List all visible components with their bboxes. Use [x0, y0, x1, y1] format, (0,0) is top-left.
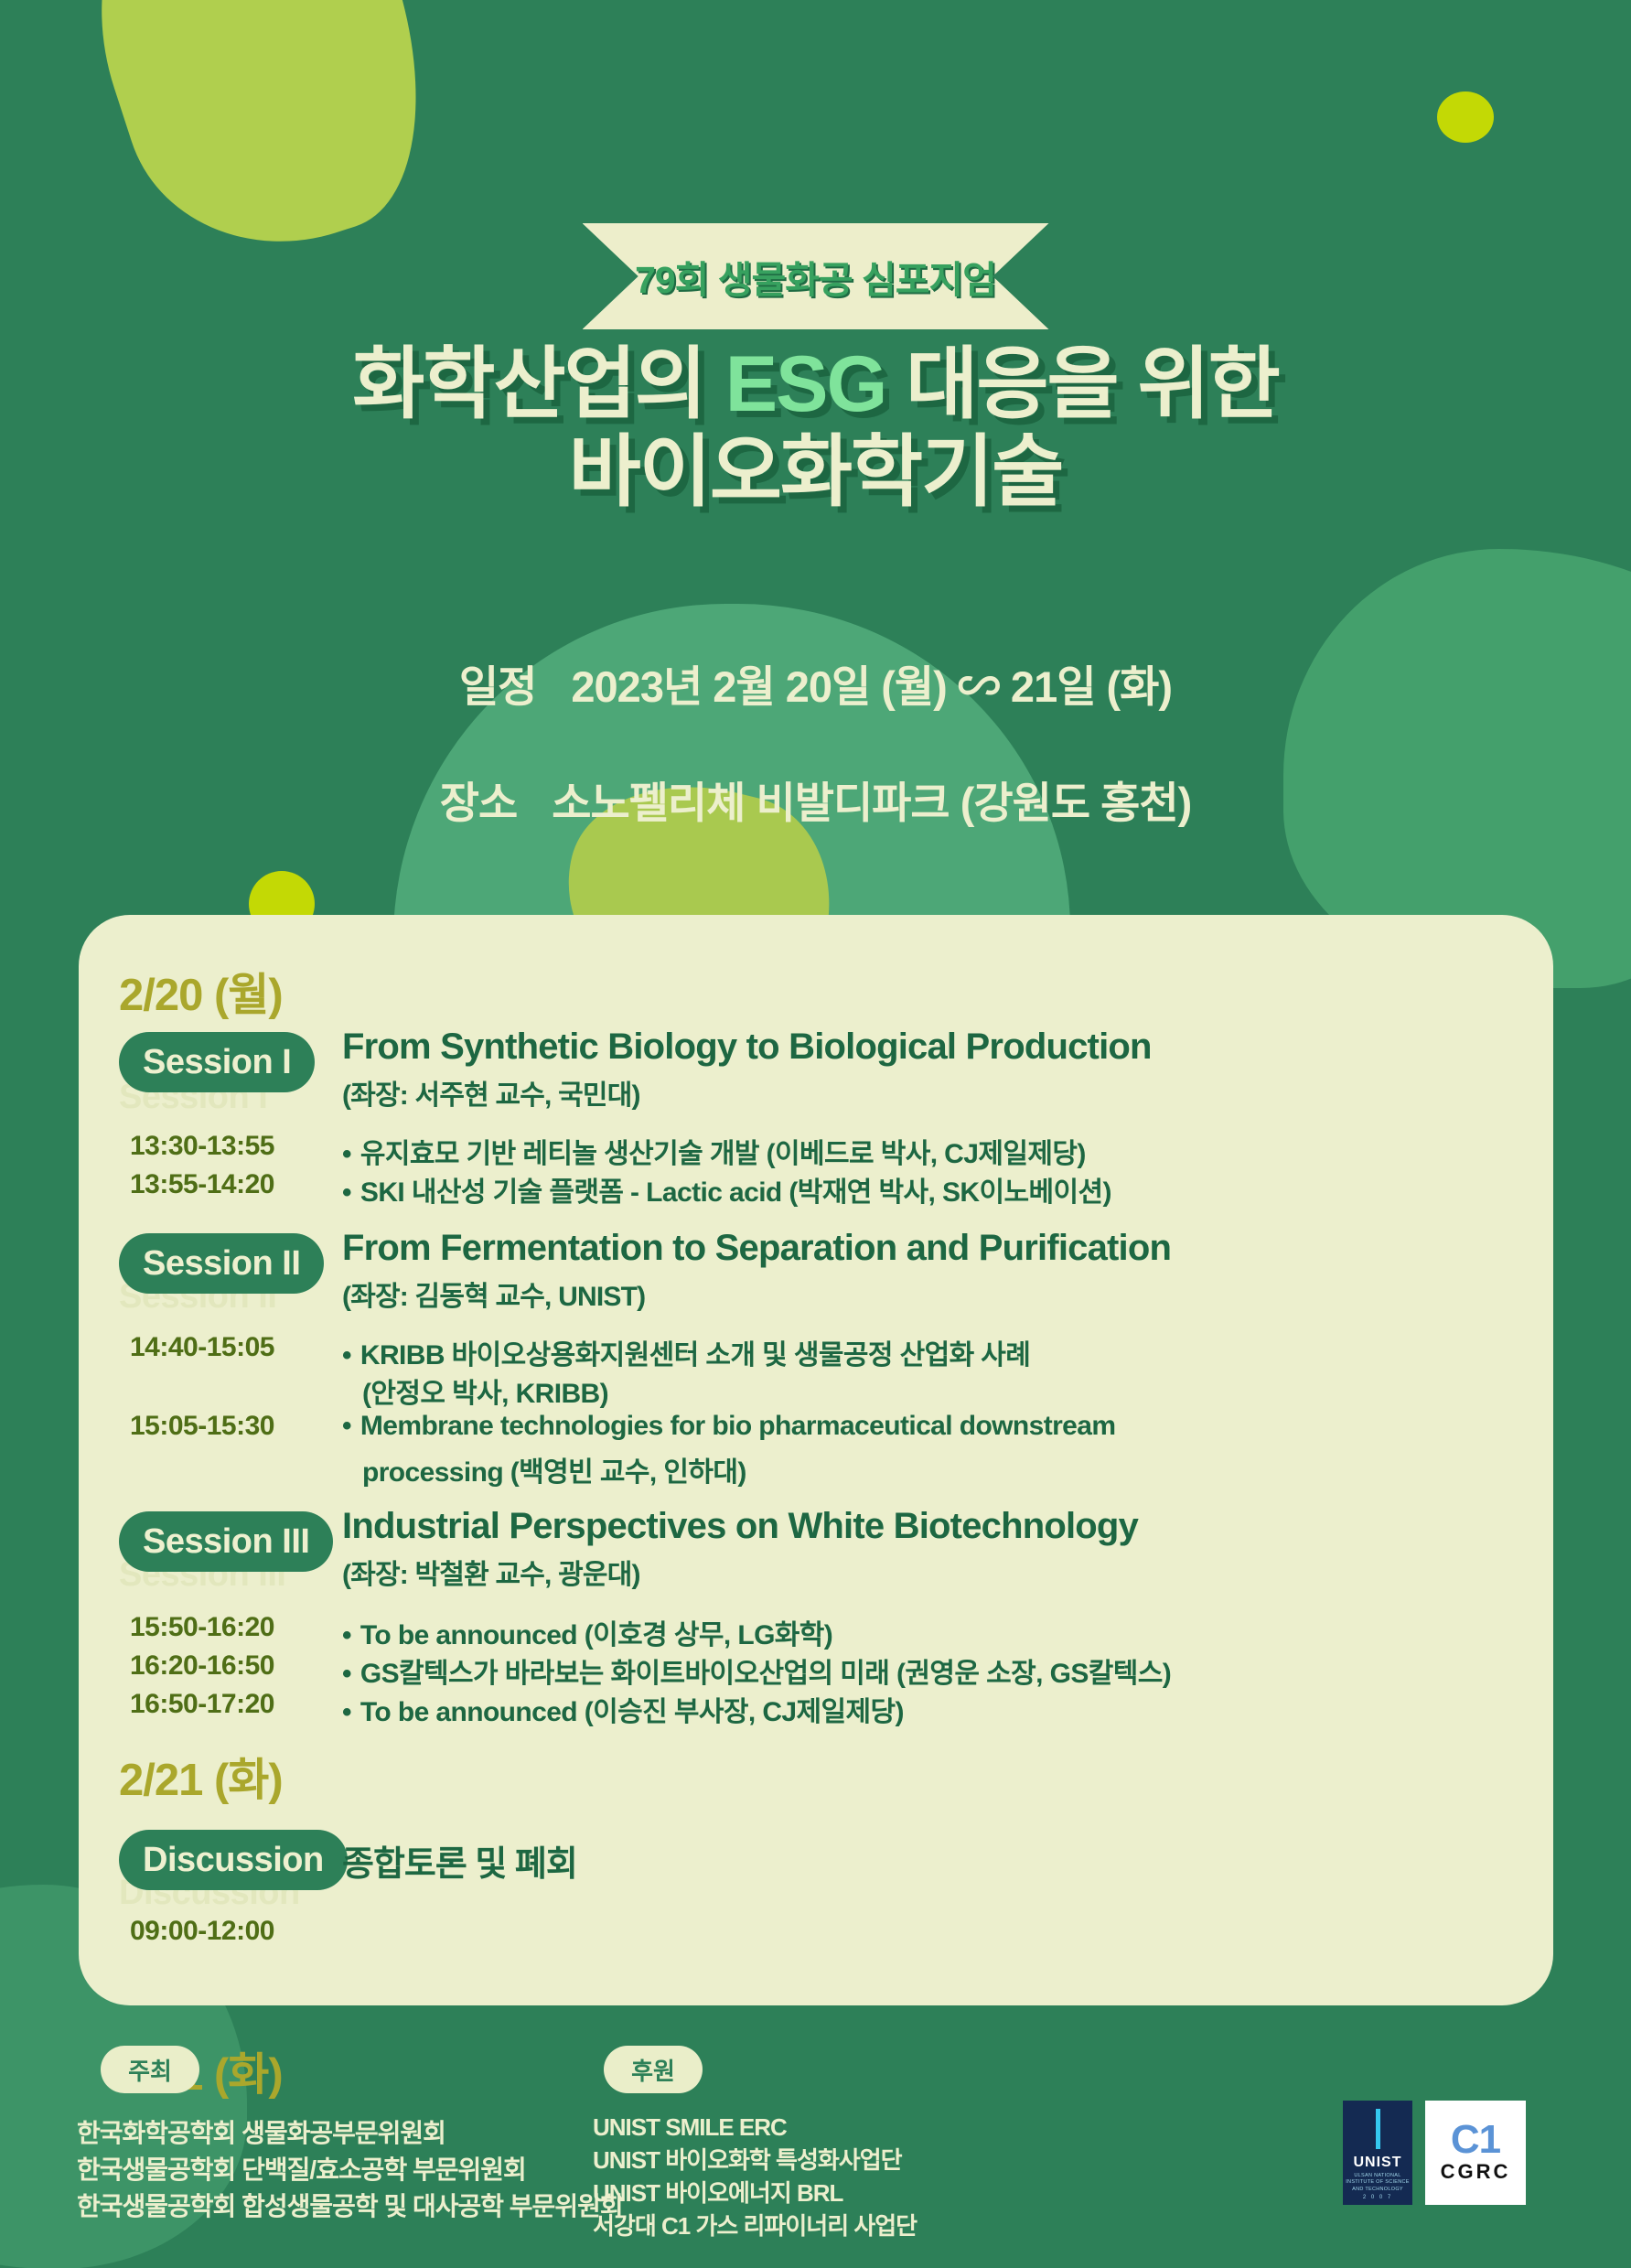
sponsor-line-3: UNIST 바이오에너지 BRL [593, 2177, 917, 2210]
session-2-pill: Session II [119, 1233, 324, 1294]
session-2-item-2-text: •Membrane technologies for bio pharmaceu… [342, 1411, 1115, 1442]
session-3-item-2-time: 16:20-16:50 [130, 1650, 274, 1682]
title-line-1-part-a: 화학산업의 [352, 340, 725, 428]
day-label-feb-21-main: 2/21 (화) [119, 1744, 283, 1809]
session-1-item-1-label: 유지효모 기반 레티놀 생산기술 개발 (이베드로 박사, CJ제일제당) [360, 1139, 1086, 1169]
unist-logo: UNIST ULSAN NATIONAL INSTITUTE OF SCIENC… [1343, 2101, 1412, 2205]
sponsor-line-2: UNIST 바이오화학 특성화사업단 [593, 2144, 917, 2177]
session-1-title: From Synthetic Biology to Biological Pro… [342, 1027, 1152, 1068]
date-value: 2023년 2월 20일 (월) ∽ 21일 (화) [571, 662, 1172, 711]
venue-label: 장소 [440, 779, 517, 827]
sponsor-tag: 후원 [604, 2046, 703, 2093]
session-3-item-3-time: 16:50-17:20 [130, 1689, 274, 1720]
session-1-item-2-text: •SKI 내산성 기술 플랫폼 - Lactic acid (박재연 박사, S… [342, 1169, 1111, 1209]
session-2-item-2-label: Membrane technologies for bio pharmaceut… [360, 1411, 1116, 1441]
session-3-item-2-text: •GS칼텍스가 바라보는 화이트바이오산업의 미래 (권영운 소장, GS칼텍스… [342, 1650, 1171, 1691]
dot-decoration-top-right [1437, 91, 1494, 143]
session-3-item-2-label: GS칼텍스가 바라보는 화이트바이오산업의 미래 (권영운 소장, GS칼텍스) [360, 1659, 1171, 1689]
discussion-pill: Discussion [119, 1830, 348, 1890]
session-2-item-1-label: KRIBB 바이오상용화지원센터 소개 및 생물공정 산업화 사례 [360, 1340, 1030, 1370]
host-list: 한국화학공학회 생물화공부문위원회 한국생물공학회 단백질/효소공학 부문위원회… [77, 2115, 623, 2224]
session-2-chair: (좌장: 김동혁 교수, UNIST) [342, 1274, 645, 1314]
session-2-item-1-time: 14:40-15:05 [130, 1332, 274, 1363]
session-2-item-2-time: 15:05-15:30 [130, 1411, 274, 1442]
unist-logo-year: 2 0 0 7 [1363, 2195, 1392, 2200]
title-line-1-part-b: 대응을 위한 [885, 340, 1278, 428]
session-1-item-2-time: 13:55-14:20 [130, 1169, 274, 1200]
title-esg-highlight: ESG [725, 340, 886, 428]
bullet-icon: • [342, 1139, 351, 1169]
event-ribbon: 79회 생물화공 심포지엄 [583, 223, 1049, 329]
host-line-3: 한국생물공학회 합성생물공학 및 대사공학 부문위원회 [77, 2188, 623, 2225]
bullet-icon: • [342, 1697, 351, 1727]
poster-footer: 주최 후원 한국화학공학회 생물화공부문위원회 한국생물공학회 단백질/효소공학… [0, 2046, 1631, 2268]
sponsor-list: UNIST SMILE ERC UNIST 바이오화학 특성화사업단 UNIST… [593, 2112, 917, 2243]
c1-cgrc-logo: C1 CGRC [1425, 2101, 1526, 2205]
session-3-item-1-text: •To be announced (이호경 상무, LG화학) [342, 1612, 832, 1652]
sponsor-line-4: 서강대 C1 가스 리파이너리 사업단 [593, 2210, 917, 2243]
session-3-pill: Session III [119, 1511, 333, 1572]
sponsor-line-1: UNIST SMILE ERC [593, 2112, 917, 2144]
host-line-1: 한국화학공학회 생물화공부문위원회 [77, 2115, 623, 2152]
bullet-icon: • [342, 1620, 351, 1650]
unist-logo-bar-icon [1376, 2109, 1380, 2149]
session-2-item-1-text: •KRIBB 바이오상용화지원센터 소개 및 생물공정 산업화 사례 [342, 1332, 1030, 1372]
ribbon-label: 79회 생물화공 심포지엄 [635, 249, 996, 304]
discussion-title: 종합토론 및 폐회 [342, 1835, 577, 1886]
session-1-item-1-time: 13:30-13:55 [130, 1131, 274, 1162]
day-label-feb-20: 2/20 (월) [119, 959, 283, 1024]
poster-title: 화학산업의 ESG 대응을 위한 바이오화학기술 [0, 340, 1631, 517]
sponsor-logos: UNIST ULSAN NATIONAL INSTITUTE OF SCIENC… [1343, 2101, 1526, 2205]
host-line-2: 한국생물공학회 단백질/효소공학 부문위원회 [77, 2152, 623, 2188]
session-3-item-3-label: To be announced (이승진 부사장, CJ제일제당) [360, 1697, 904, 1727]
session-3-chair: (좌장: 박철환 교수, 광운대) [342, 1552, 640, 1592]
session-3-item-1-label: To be announced (이호경 상무, LG화학) [360, 1620, 832, 1650]
cgrc-logo-text: CGRC [1441, 2160, 1511, 2184]
date-label: 일정 [459, 662, 536, 711]
session-1-item-1-text: •유지효모 기반 레티놀 생산기술 개발 (이베드로 박사, CJ제일제당) [342, 1131, 1086, 1171]
unist-logo-name: UNIST [1354, 2155, 1402, 2171]
bullet-icon: • [342, 1659, 351, 1689]
program-card: 2/20 (월) 2/21 (화) Session I Session I Fr… [79, 915, 1553, 2005]
title-line-1: 화학산업의 ESG 대응을 위한 [0, 340, 1631, 428]
event-venue-row: 장소소노펠리체 비발디파크 (강원도 홍천) [0, 768, 1631, 831]
session-3-item-1-time: 15:50-16:20 [130, 1612, 274, 1643]
session-1-chair: (좌장: 서주현 교수, 국민대) [342, 1072, 640, 1113]
session-3-title: Industrial Perspectives on White Biotech… [342, 1506, 1138, 1547]
discussion-time: 09:00-12:00 [130, 1916, 274, 1947]
event-meta: 일정2023년 2월 20일 (월) ∽ 21일 (화) 장소소노펠리체 비발디… [0, 651, 1631, 831]
title-line-2: 바이오화학기술 [0, 428, 1631, 516]
leaf-shape-top-left [57, 0, 466, 284]
bullet-icon: • [342, 1411, 351, 1441]
host-tag: 주최 [101, 2046, 199, 2093]
venue-value: 소노펠리체 비발디파크 (강원도 홍천) [552, 779, 1191, 827]
bullet-icon: • [342, 1340, 351, 1370]
session-3-item-3-text: •To be announced (이승진 부사장, CJ제일제당) [342, 1689, 904, 1729]
session-1-item-2-label: SKI 내산성 기술 플랫폼 - Lactic acid (박재연 박사, SK… [360, 1177, 1111, 1208]
c1-logo-mark: C1 [1451, 2122, 1500, 2158]
session-1-pill: Session I [119, 1032, 315, 1092]
poster-root: 79회 생물화공 심포지엄 화학산업의 ESG 대응을 위한 바이오화학기술 일… [0, 0, 1631, 2268]
event-date-row: 일정2023년 2월 20일 (월) ∽ 21일 (화) [0, 651, 1631, 715]
session-2-title: From Fermentation to Separation and Puri… [342, 1228, 1171, 1269]
ribbon-banner: 79회 생물화공 심포지엄 [583, 223, 1049, 329]
session-2-item-2-text-cont: processing (백영빈 교수, 인하대) [362, 1449, 746, 1489]
session-2-item-1-text-cont: (안정오 박사, KRIBB) [362, 1370, 608, 1411]
unist-logo-subtitle: ULSAN NATIONAL INSTITUTE OF SCIENCE AND … [1343, 2173, 1412, 2193]
bullet-icon: • [342, 1177, 351, 1208]
